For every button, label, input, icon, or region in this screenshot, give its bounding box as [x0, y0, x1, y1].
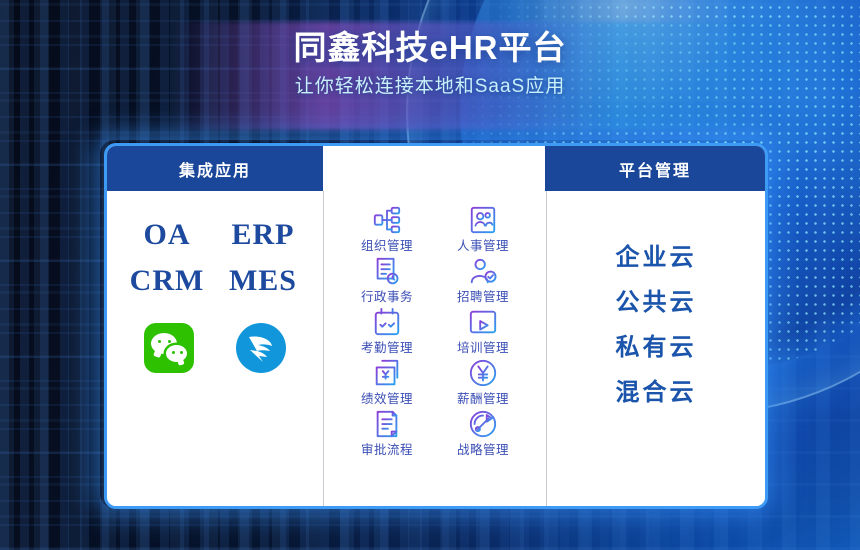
training-icon — [468, 307, 498, 337]
app-word-erp[interactable]: ERP — [232, 215, 295, 255]
module-label: 人事管理 — [457, 238, 509, 254]
personnel-icon — [468, 205, 498, 235]
tab-platform-management-label: 平台管理 — [619, 157, 691, 181]
module-label: 招聘管理 — [457, 289, 509, 305]
dingtalk-icon[interactable] — [236, 323, 286, 373]
cloud-option-public[interactable]: 公共云 — [616, 280, 697, 325]
header: 同鑫科技eHR平台 让你轻松连接本地和SaaS应用 — [0, 26, 860, 102]
module-recruitment-management[interactable]: 招聘管理 — [441, 256, 525, 305]
cloud-option-hybrid[interactable]: 混合云 — [616, 370, 697, 415]
approval-icon — [372, 409, 402, 439]
module-attendance-management[interactable]: 考勤管理 — [345, 307, 429, 356]
tab-bar: 集成应用 平台管理 — [107, 146, 765, 191]
integrated-apps-panel: OA ERP CRM MES — [107, 191, 323, 506]
tab-integrated-apps-label: 集成应用 — [179, 157, 251, 181]
tab-platform-management[interactable]: 平台管理 — [545, 146, 765, 191]
module-training-management[interactable]: 培训管理 — [441, 307, 525, 356]
app-word-oa[interactable]: OA — [144, 215, 191, 255]
recruitment-icon — [468, 256, 498, 286]
module-label: 培训管理 — [457, 340, 509, 356]
module-salary-management[interactable]: 薪酬管理 — [441, 358, 525, 407]
page-subtitle: 让你轻松连接本地和SaaS应用 — [0, 72, 860, 102]
app-word-crm[interactable]: CRM — [130, 261, 205, 301]
module-label: 审批流程 — [361, 442, 413, 458]
card-body: OA ERP CRM MES — [107, 191, 765, 506]
app-word-mes[interactable]: MES — [229, 261, 297, 301]
admin-affairs-icon — [372, 256, 402, 286]
wechat-bubble-small — [166, 345, 187, 362]
main-card: 集成应用 平台管理 OA ERP CRM MES — [104, 143, 768, 509]
performance-icon — [372, 358, 402, 388]
module-strategy-management[interactable]: 战略管理 — [441, 409, 525, 458]
page-title: 同鑫科技eHR平台 — [0, 26, 860, 70]
org-chart-icon — [372, 205, 402, 235]
module-admin-affairs[interactable]: 行政事务 — [345, 256, 429, 305]
tab-integrated-apps[interactable]: 集成应用 — [107, 146, 323, 191]
platform-management-panel: 企业云 公共云 私有云 混合云 — [547, 191, 765, 506]
dingtalk-wing-glyph — [245, 333, 277, 363]
module-label: 组织管理 — [361, 238, 413, 254]
salary-icon — [468, 358, 498, 388]
module-label: 绩效管理 — [361, 391, 413, 407]
module-performance-management[interactable]: 绩效管理 — [345, 358, 429, 407]
module-label: 行政事务 — [361, 289, 413, 305]
poster-stage: 同鑫科技eHR平台 让你轻松连接本地和SaaS应用 集成应用 平台管理 OA E… — [0, 0, 860, 550]
app-icon-row — [144, 323, 286, 373]
module-org-management[interactable]: 组织管理 — [345, 205, 429, 254]
module-label: 薪酬管理 — [457, 391, 509, 407]
tab-hr-modules[interactable] — [323, 146, 545, 191]
cloud-option-enterprise[interactable]: 企业云 — [616, 235, 697, 280]
attendance-icon — [372, 307, 402, 337]
module-label: 考勤管理 — [361, 340, 413, 356]
hr-modules-panel: 组织管理 人事管理 — [323, 191, 547, 506]
module-label: 战略管理 — [457, 442, 509, 458]
wechat-icon[interactable] — [144, 323, 194, 373]
module-approval-process[interactable]: 审批流程 — [345, 409, 429, 458]
module-personnel-management[interactable]: 人事管理 — [441, 205, 525, 254]
erp-word-grid: OA ERP CRM MES — [119, 215, 311, 301]
module-grid: 组织管理 人事管理 — [345, 205, 525, 458]
strategy-icon — [468, 409, 498, 439]
cloud-option-private[interactable]: 私有云 — [616, 325, 697, 370]
